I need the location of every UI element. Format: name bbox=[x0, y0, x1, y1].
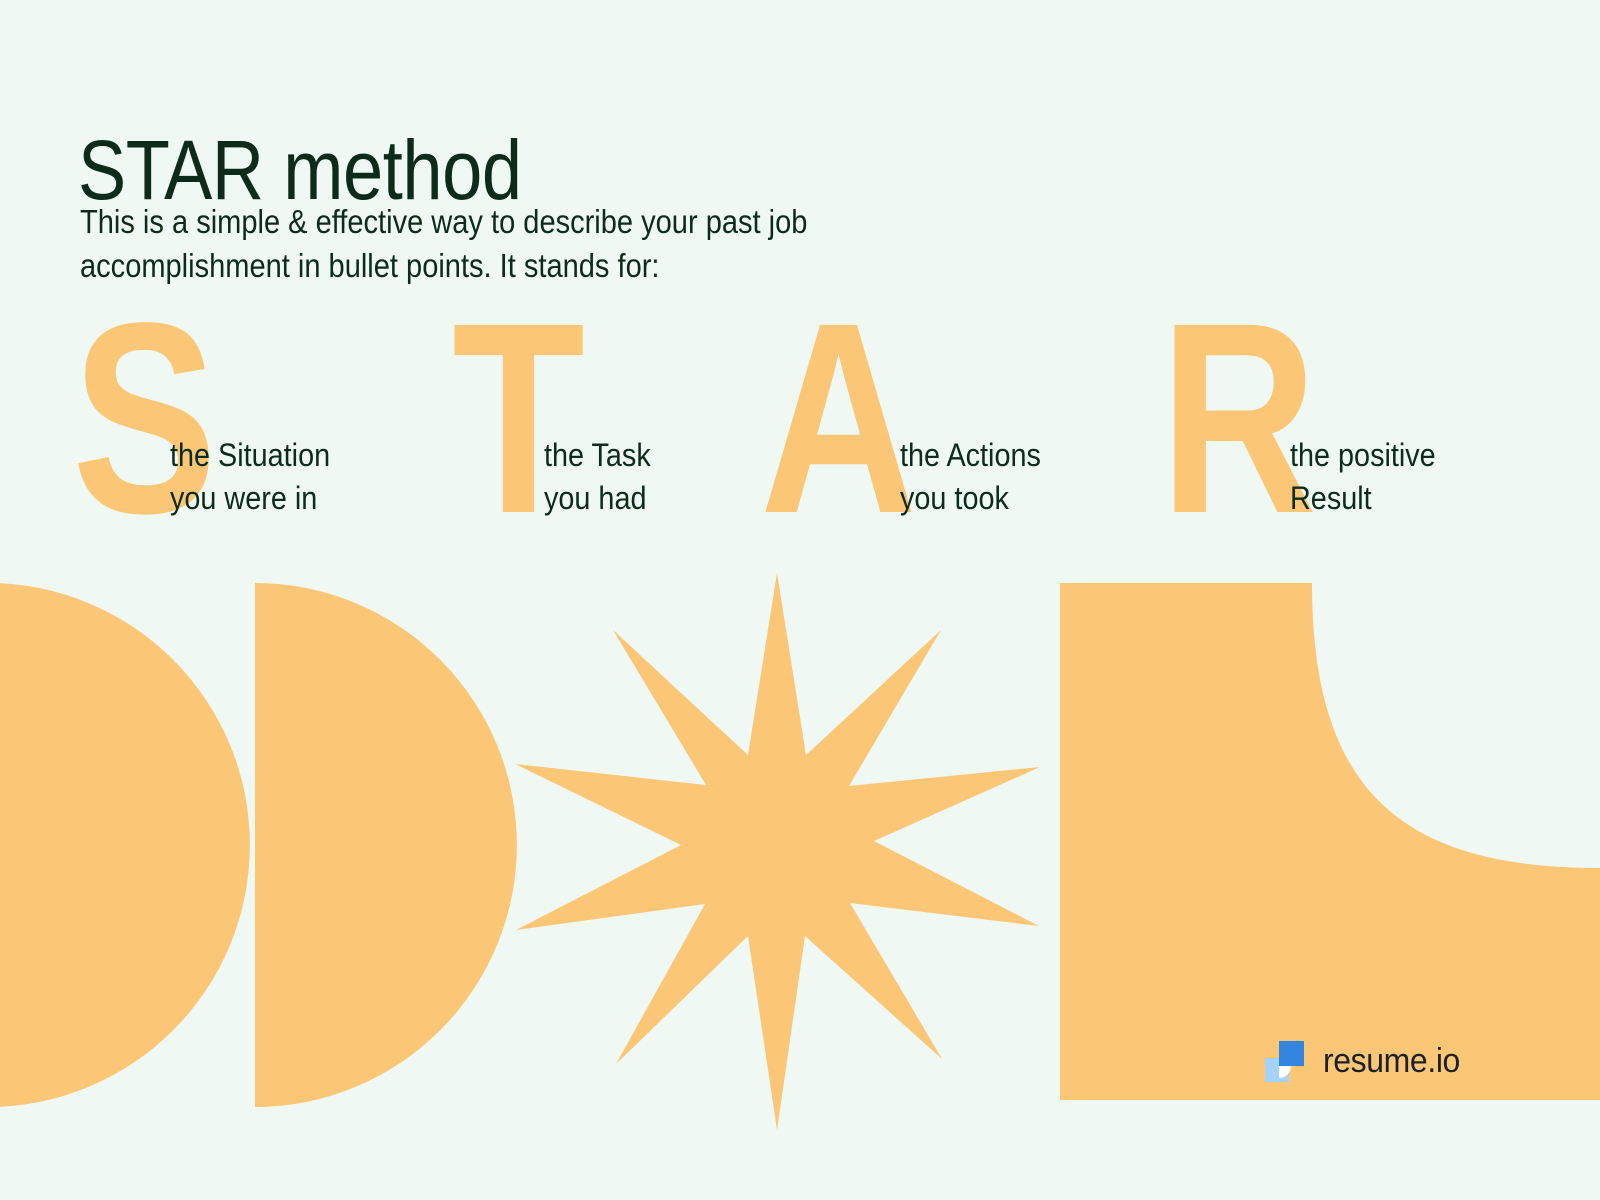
caption-task-line-2: you had bbox=[544, 477, 651, 520]
caption-actions-line-1: the Actions bbox=[900, 434, 1041, 477]
resume-io-wordmark: resume.io bbox=[1323, 1042, 1460, 1081]
caption-result-line-1: the positive bbox=[1290, 434, 1436, 477]
caption-actions: the Actions you took bbox=[900, 434, 1041, 520]
half-circle-second-shape bbox=[255, 583, 517, 1107]
caption-task-line-1: the Task bbox=[544, 434, 651, 477]
star-letters-row: S the Situation you were in T the Task y… bbox=[0, 316, 1600, 526]
caption-situation-line-1: the Situation bbox=[170, 434, 330, 477]
resume-io-logo[interactable]: resume.io bbox=[1263, 1038, 1469, 1084]
star-item-task: T the Task you had bbox=[452, 316, 792, 526]
starburst-shape bbox=[515, 573, 1040, 1130]
logo-mark-quarter-circle bbox=[1279, 1066, 1291, 1078]
caption-result: the positive Result bbox=[1290, 434, 1436, 520]
concave-corner-block-shape bbox=[1060, 583, 1600, 1100]
caption-actions-line-2: you took bbox=[900, 477, 1041, 520]
star-item-actions: A the Actions you took bbox=[760, 316, 1100, 526]
half-circle-left-shape bbox=[0, 583, 250, 1107]
caption-situation-line-2: you were in bbox=[170, 477, 330, 520]
subtitle-line-1: This is a simple & effective way to desc… bbox=[80, 200, 995, 244]
resume-io-logo-mark bbox=[1263, 1038, 1309, 1084]
big-letter-a: A bbox=[760, 316, 917, 521]
infographic-page: STAR method This is a simple & effective… bbox=[0, 0, 1600, 1200]
star-item-situation: S the Situation you were in bbox=[72, 316, 412, 526]
star-item-result: R the positive Result bbox=[1160, 316, 1500, 526]
caption-result-line-2: Result bbox=[1290, 477, 1436, 520]
caption-situation: the Situation you were in bbox=[170, 434, 330, 520]
caption-task: the Task you had bbox=[544, 434, 651, 520]
